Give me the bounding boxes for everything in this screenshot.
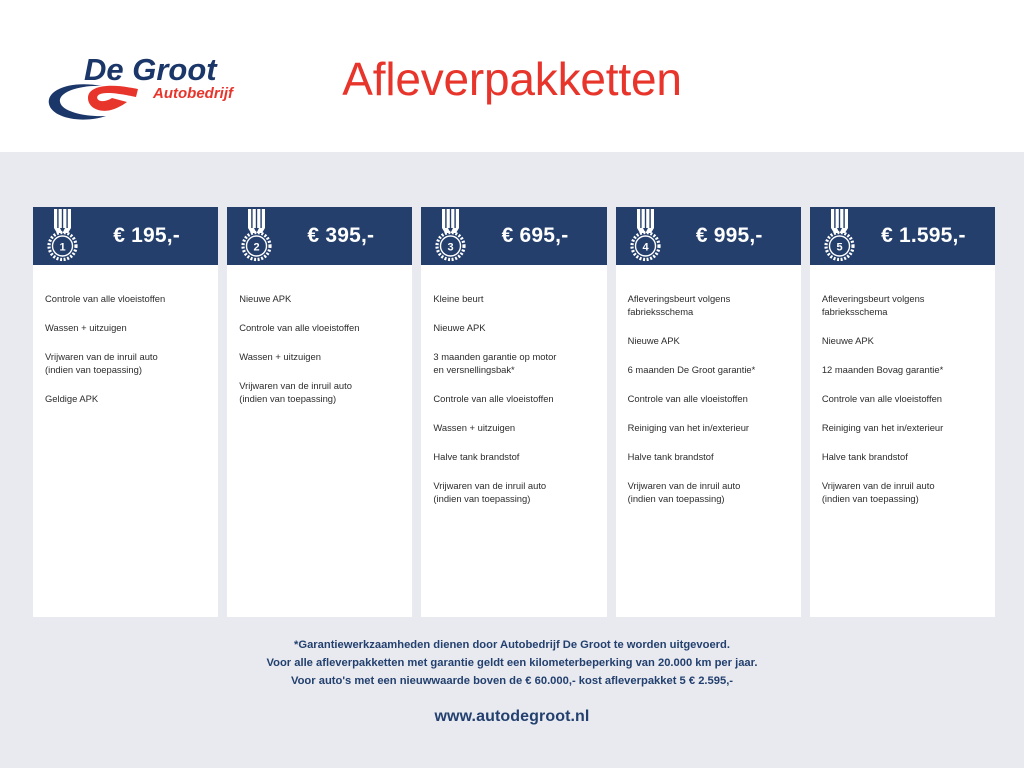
medal-number: 1 [59,242,65,254]
package-price-4: € 995,- [666,224,801,248]
package-features-1: Controle van alle vloeistoffen Wassen + … [33,265,218,617]
medal-icon: 1 [43,208,83,264]
feature-item: Wassen + uitzuigen [45,322,206,335]
package-price-3: € 695,- [471,224,606,248]
package-features-4: Afleveringsbeurt volgens fabrieksschema … [616,265,801,617]
package-price-2: € 395,- [277,224,412,248]
feature-item: Halve tank brandstof [433,451,594,464]
package-price-1: € 195,- [83,224,218,248]
feature-item: Vrijwaren van de inruil auto (indien van… [433,480,594,506]
medal-icon: 5 [820,208,860,264]
feature-item: Afleveringsbeurt volgens fabrieksschema [822,293,983,319]
package-cards: 1 € 195,- Controle van alle vloeistoffen… [33,207,995,617]
medal-number: 2 [254,242,260,254]
package-header-5: 5 € 1.595,- [810,207,995,265]
feature-item: Controle van alle vloeistoffen [239,322,400,335]
poster-root: De Groot Autobedrijf Afleverpakketten [0,0,1024,768]
feature-item: Wassen + uitzuigen [239,351,400,364]
feature-item: Controle van alle vloeistoffen [628,393,789,406]
header-band: De Groot Autobedrijf Afleverpakketten [0,0,1024,152]
feature-item: Reiniging van het in/exterieur [822,422,983,435]
feature-item: Afleveringsbeurt volgens fabrieksschema [628,293,789,319]
package-price-5: € 1.595,- [860,224,995,248]
feature-item: 6 maanden De Groot garantie* [628,364,789,377]
feature-item: Halve tank brandstof [628,451,789,464]
package-card-1[interactable]: 1 € 195,- Controle van alle vloeistoffen… [33,207,218,617]
package-header-2: 2 € 395,- [227,207,412,265]
feature-item: 3 maanden garantie op motor en versnelli… [433,351,594,377]
page-title: Afleverpakketten [0,52,1024,106]
website-link[interactable]: www.autodegroot.nl [0,708,1024,726]
feature-item: Controle van alle vloeistoffen [45,293,206,306]
feature-item: Geldige APK [45,393,206,406]
medal-icon: 3 [431,208,471,264]
feature-item: Reiniging van het in/exterieur [628,422,789,435]
feature-item: Vrijwaren van de inruil auto (indien van… [628,480,789,506]
package-card-2[interactable]: 2 € 395,- Nieuwe APK Controle van alle v… [227,207,412,617]
medal-icon: 4 [626,208,666,264]
footer-disclaimer: *Garantiewerkzaamheden dienen door Autob… [0,636,1024,690]
medal-icon: 2 [237,208,277,264]
package-header-1: 1 € 195,- [33,207,218,265]
package-header-4: 4 € 995,- [616,207,801,265]
disclaimer-line: Voor alle afleverpakketten met garantie … [0,654,1024,672]
medal-number: 3 [448,242,454,254]
feature-item: Vrijwaren van de inruil auto (indien van… [239,380,400,406]
package-card-5[interactable]: 5 € 1.595,- Afleveringsbeurt volgens fab… [810,207,995,617]
feature-item: Controle van alle vloeistoffen [433,393,594,406]
package-features-3: Kleine beurt Nieuwe APK 3 maanden garant… [421,265,606,617]
package-features-5: Afleveringsbeurt volgens fabrieksschema … [810,265,995,617]
feature-item: Nieuwe APK [433,322,594,335]
package-header-3: 3 € 695,- [421,207,606,265]
feature-item: Vrijwaren van de inruil auto (indien van… [45,351,206,377]
package-card-4[interactable]: 4 € 995,- Afleveringsbeurt volgens fabri… [616,207,801,617]
feature-item: Kleine beurt [433,293,594,306]
disclaimer-line: *Garantiewerkzaamheden dienen door Autob… [0,636,1024,654]
medal-number: 4 [642,242,649,254]
disclaimer-line: Voor auto's met een nieuwwaarde boven de… [0,672,1024,690]
medal-number: 5 [836,242,842,254]
package-features-2: Nieuwe APK Controle van alle vloeistoffe… [227,265,412,617]
feature-item: Wassen + uitzuigen [433,422,594,435]
feature-item: Vrijwaren van de inruil auto (indien van… [822,480,983,506]
feature-item: 12 maanden Bovag garantie* [822,364,983,377]
feature-item: Nieuwe APK [628,335,789,348]
feature-item: Controle van alle vloeistoffen [822,393,983,406]
feature-item: Halve tank brandstof [822,451,983,464]
feature-item: Nieuwe APK [822,335,983,348]
package-card-3[interactable]: 3 € 695,- Kleine beurt Nieuwe APK 3 maan… [421,207,606,617]
feature-item: Nieuwe APK [239,293,400,306]
